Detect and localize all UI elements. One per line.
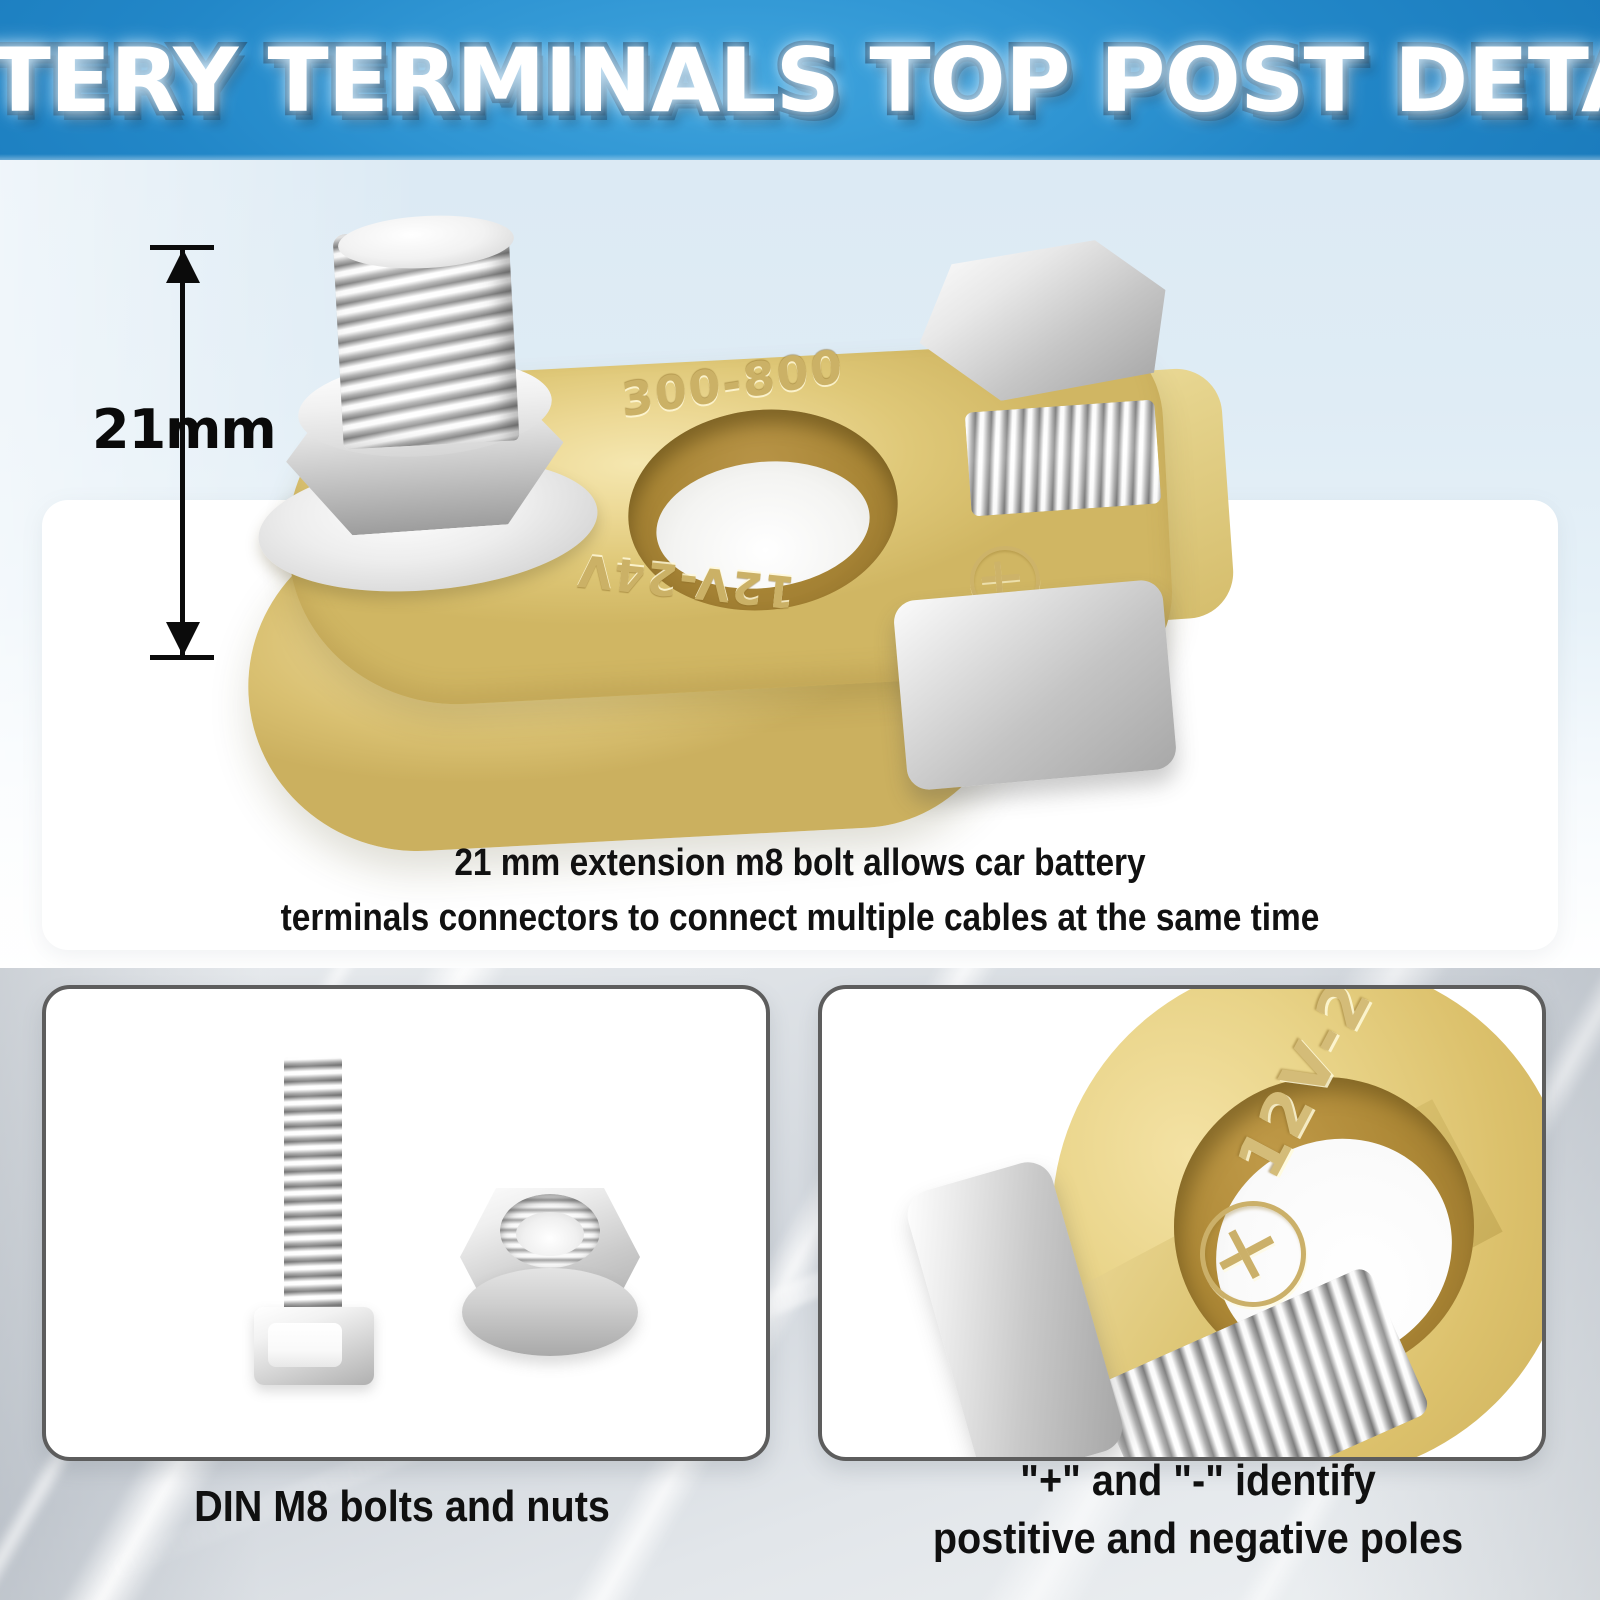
bolt-head (254, 1307, 374, 1385)
bolts-nuts-caption: DIN M8 bolts and nuts (78, 1478, 726, 1536)
polarity-caption-line1: "+" and "-" identify (1020, 1456, 1376, 1505)
nut-flange (462, 1268, 638, 1356)
polarity-caption-line2: postitive and negative poles (856, 1510, 1540, 1568)
main-feature-caption-line2: terminals connectors to connect multiple… (133, 891, 1467, 946)
feature-card-bolts-nuts (42, 985, 770, 1461)
polarity-caption: "+" and "-" identify postitive and negat… (856, 1452, 1540, 1568)
polarity-closeup-image: 12V-24V (822, 989, 1534, 1449)
header-banner: BATTERY TERMINALS TOP POST DETAILS (0, 0, 1600, 160)
bolt-shank (284, 1057, 342, 1315)
nut-hole (516, 1212, 584, 1256)
square-bolt-head-lower (892, 579, 1178, 792)
main-feature-caption: 21 mm extension m8 bolt allows car batte… (133, 836, 1467, 946)
arrow-head-up-icon (166, 249, 200, 283)
dimension-label: 21mm (92, 398, 276, 461)
flange-nut-image (460, 1164, 640, 1364)
page-title: BATTERY TERMINALS TOP POST DETAILS (0, 0, 1600, 160)
infographic-page: BATTERY TERMINALS TOP POST DETAILS 300-8… (0, 0, 1600, 1600)
feature-card-polarity: 12V-24V (818, 985, 1546, 1461)
clamp-threaded-rod (965, 399, 1162, 516)
product-image-terminal-clamp: 300-800 12V-24V (228, 210, 1248, 830)
m8-bolt-image (254, 1057, 374, 1387)
arrow-head-down-icon (166, 622, 200, 656)
main-feature-caption-line1: 21 mm extension m8 bolt allows car batte… (454, 842, 1145, 884)
dimension-tick-bottom (150, 655, 214, 660)
